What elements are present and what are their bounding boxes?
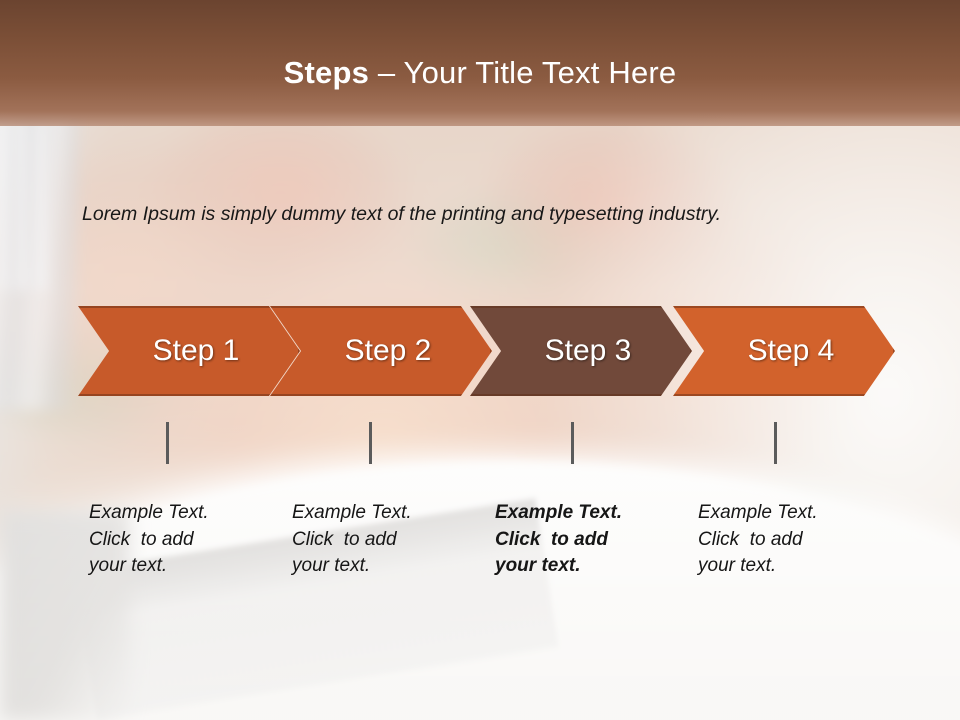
fork-tines-shape xyxy=(0,120,62,290)
caption-step-2-line-3: your text. xyxy=(292,553,462,580)
connector-tick-1 xyxy=(166,422,169,464)
caption-step-3-line-1: Example Text. xyxy=(495,500,665,527)
caption-step-4-line-3: your text. xyxy=(698,553,868,580)
chevron-step-4[interactable]: Step 4 xyxy=(673,306,895,396)
caption-step-1-line-3: your text. xyxy=(89,553,259,580)
chevron-step-1[interactable]: Step 1 xyxy=(78,306,300,396)
body-paragraph[interactable]: Lorem Ipsum is simply dummy text of the … xyxy=(82,198,890,231)
chevron-step-2[interactable]: Step 2 xyxy=(270,306,492,396)
body-paragraph-text: Lorem Ipsum is simply dummy text of the … xyxy=(82,203,721,225)
caption-step-4-line-2: Click to add xyxy=(698,527,868,554)
caption-step-3-line-2: Click to add xyxy=(495,527,665,554)
process-chevron-row: Step 1 Step 2 Step 3 Step 4 xyxy=(0,306,960,398)
page-title: Steps – Your Title Text Here xyxy=(0,54,960,92)
chevron-step-4-label: Step 4 xyxy=(748,336,835,366)
caption-step-1-line-1: Example Text. xyxy=(89,500,259,527)
caption-step-2-line-1: Example Text. xyxy=(292,500,462,527)
caption-step-4[interactable]: Example Text. Click to add your text. xyxy=(698,500,868,580)
caption-step-3-line-3: your text. xyxy=(495,553,665,580)
connector-tick-3 xyxy=(571,422,574,464)
caption-step-1[interactable]: Example Text. Click to add your text. xyxy=(89,500,259,580)
chevron-step-2-label: Step 2 xyxy=(345,336,432,366)
caption-step-3[interactable]: Example Text. Click to add your text. xyxy=(495,500,665,580)
title-bold-part: Steps xyxy=(284,55,369,90)
connector-tick-2 xyxy=(369,422,372,464)
chevron-step-1-label: Step 1 xyxy=(153,336,240,366)
title-rest-part: – Your Title Text Here xyxy=(369,55,676,90)
chevron-step-3-label: Step 3 xyxy=(545,336,632,366)
caption-step-2[interactable]: Example Text. Click to add your text. xyxy=(292,500,462,580)
connector-tick-4 xyxy=(774,422,777,464)
slide-canvas: Steps – Your Title Text Here Lorem Ipsum… xyxy=(0,0,960,720)
caption-step-4-line-1: Example Text. xyxy=(698,500,868,527)
caption-step-1-line-2: Click to add xyxy=(89,527,259,554)
title-bar: Steps – Your Title Text Here xyxy=(0,0,960,126)
chevron-step-3[interactable]: Step 3 xyxy=(470,306,692,396)
caption-step-2-line-2: Click to add xyxy=(292,527,462,554)
